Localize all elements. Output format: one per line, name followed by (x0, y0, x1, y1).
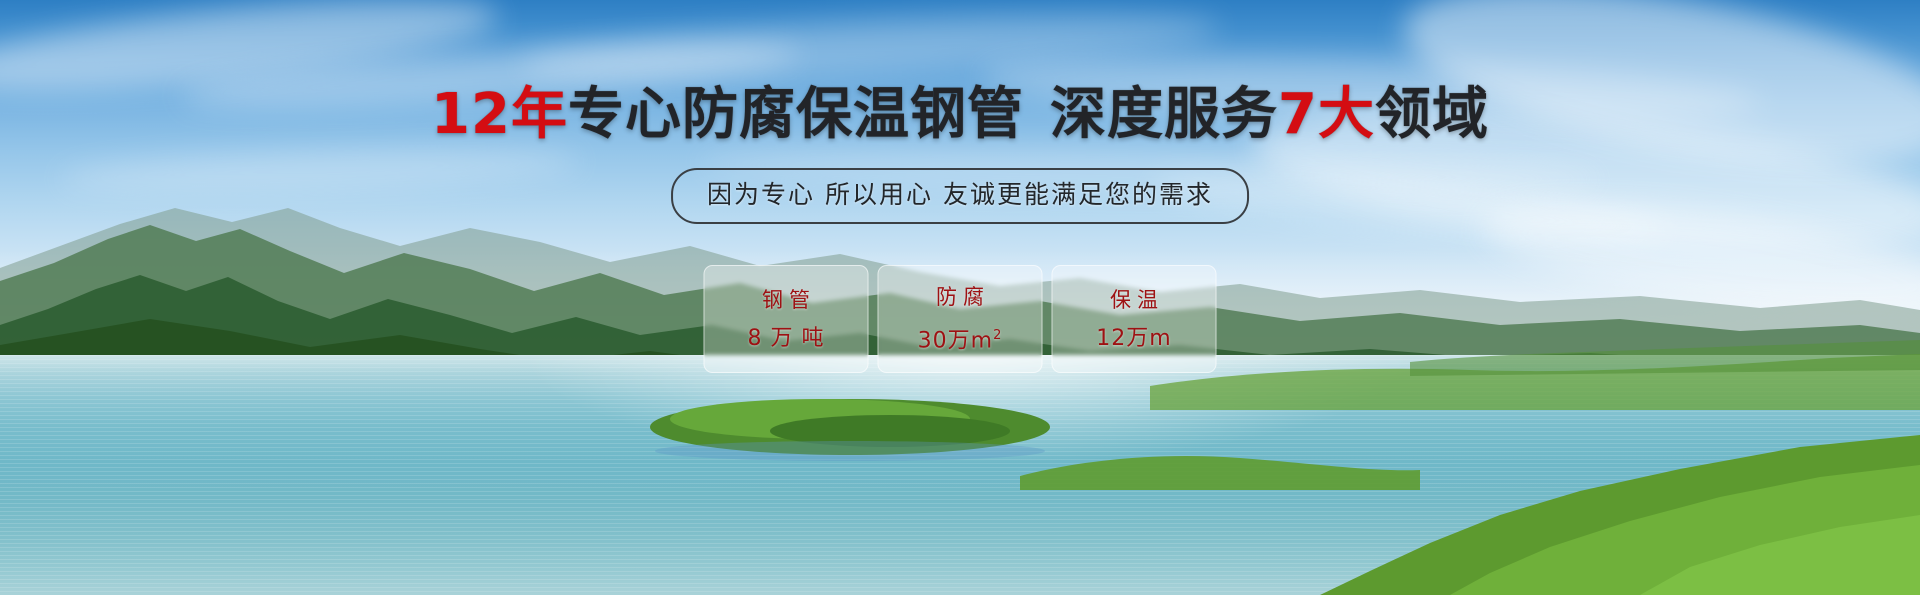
stat-card-label: 钢管 (756, 287, 816, 313)
headline-part-3: 领域 (1375, 82, 1489, 147)
headline-part-1: 专心防腐保温钢管 (568, 82, 1024, 147)
stat-card-value-main: 12万m (1096, 326, 1171, 351)
subtitle-pill: 因为专心 所以用心 友诚更能满足您的需求 (671, 168, 1249, 224)
grass-field-right (1200, 395, 1920, 595)
stat-card-value-superscript: 2 (993, 328, 1002, 343)
stat-card-value: 30万m2 (918, 323, 1003, 354)
stat-card-group: 钢管 8 万 吨 防腐 30万m2 保温 12万m (704, 265, 1217, 373)
hero-banner: 12年专心防腐保温钢管深度服务7大领域 因为专心 所以用心 友诚更能满足您的需求… (0, 0, 1920, 595)
headline-highlight-number: 7 (1278, 82, 1318, 147)
headline-years-number: 12 (431, 82, 511, 147)
stat-card-insulation[interactable]: 保温 12万m (1052, 265, 1217, 373)
stat-card-value-main: 30万m (918, 328, 993, 353)
grass-bank-mid (1020, 430, 1420, 490)
page-title: 12年专心防腐保温钢管深度服务7大领域 (0, 84, 1920, 146)
grass-island (640, 385, 1060, 465)
stat-card-label: 保温 (1104, 287, 1164, 313)
stat-card-label: 防腐 (930, 284, 990, 310)
stat-card-value-main: 8 万 吨 (748, 326, 825, 351)
stat-card-anticorrosion[interactable]: 防腐 30万m2 (878, 265, 1043, 373)
stat-card-value: 12万m (1096, 326, 1171, 352)
headline-highlight-unit: 大 (1318, 82, 1375, 147)
grass-bank-far (1150, 300, 1920, 410)
headline-years-unit: 年 (511, 82, 568, 147)
headline-part-2: 深度服务 (1050, 82, 1278, 147)
stat-card-value: 8 万 吨 (748, 326, 825, 352)
stat-card-steel-pipe[interactable]: 钢管 8 万 吨 (704, 265, 869, 373)
